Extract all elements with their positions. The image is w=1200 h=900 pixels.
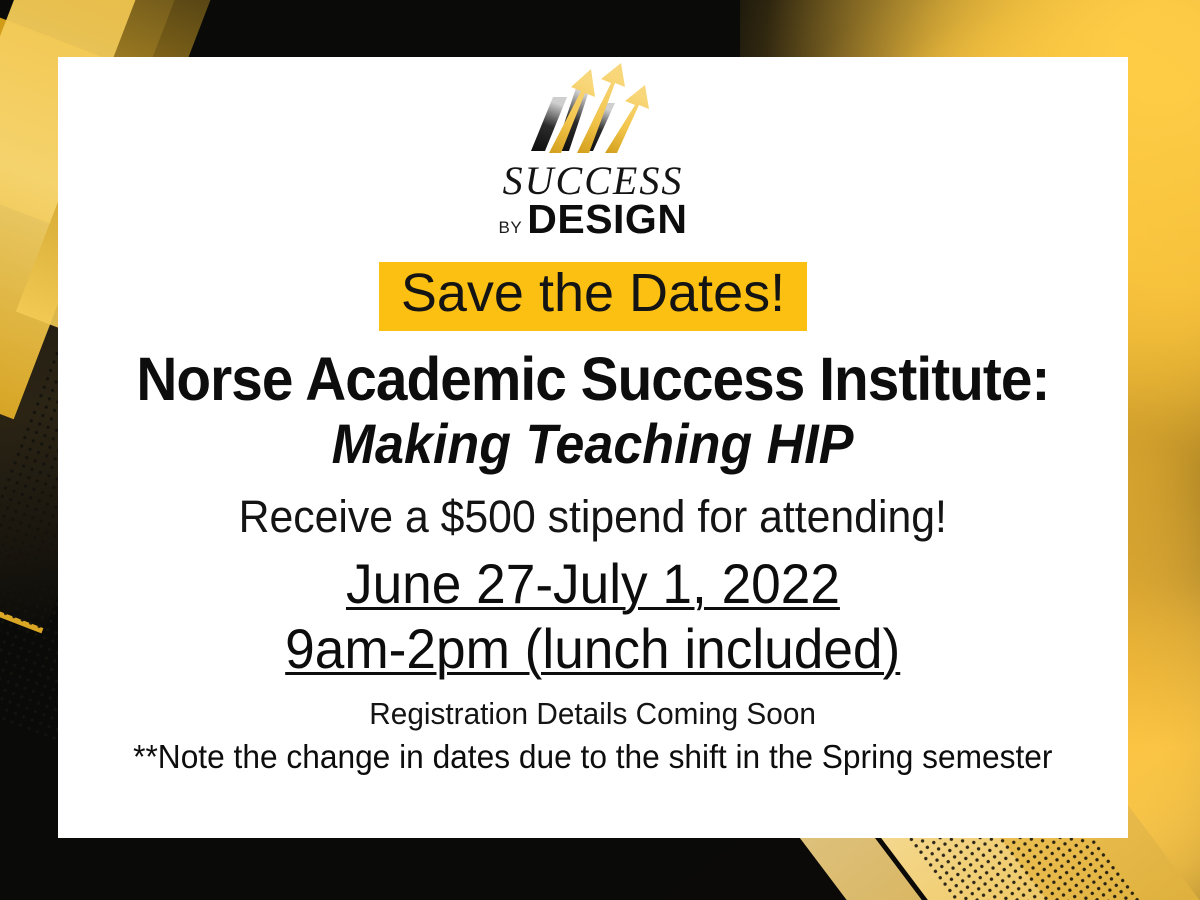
logo-wordmark: SUCCESS BY DESIGN (499, 161, 688, 240)
stipend-line: Receive a $500 stipend for attending! (239, 492, 947, 542)
date-change-note: **Note the change in dates due to the sh… (133, 738, 1052, 776)
save-the-dates-banner: Save the Dates! (379, 262, 807, 331)
logo-by-text: BY (499, 219, 523, 236)
logo-by-design-row: BY DESIGN (499, 199, 688, 240)
brand-logo: SUCCESS BY DESIGN (488, 63, 698, 240)
poster-canvas: SUCCESS BY DESIGN Save the Dates! Norse … (0, 0, 1200, 900)
logo-design-text: DESIGN (527, 199, 687, 240)
event-date-line: June 27-July 1, 2022 (346, 553, 840, 616)
content-card: SUCCESS BY DESIGN Save the Dates! Norse … (58, 57, 1128, 838)
registration-note: Registration Details Coming Soon (370, 696, 817, 732)
logo-success-text: SUCCESS (499, 161, 688, 201)
event-time-line: 9am-2pm (lunch included) (285, 618, 900, 681)
event-title: Norse Academic Success Institute: (136, 347, 1049, 411)
three-gold-arrows-logo-mark (523, 63, 663, 159)
event-subtitle: Making Teaching HIP (332, 415, 854, 474)
